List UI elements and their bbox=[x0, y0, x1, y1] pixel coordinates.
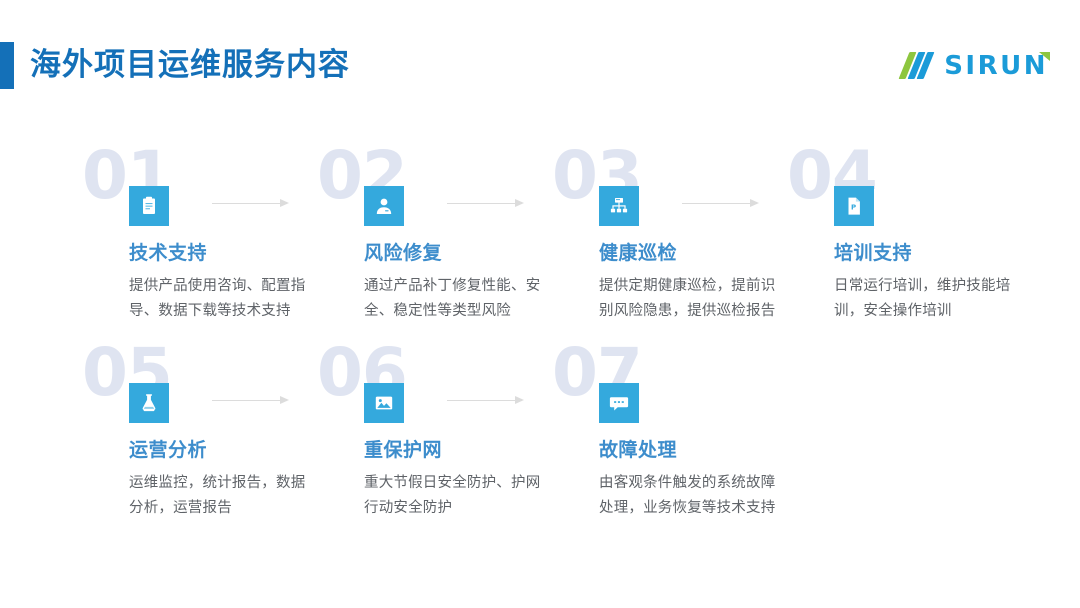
card-description: 运维监控，统计报告，数据分析，运营报告 bbox=[129, 471, 319, 521]
page-header: 海外项目运维服务内容 SIRUN bbox=[0, 0, 1080, 120]
card-title: 故障处理 bbox=[599, 435, 677, 462]
connector-arrow-6-7 bbox=[447, 396, 527, 405]
svg-text:P: P bbox=[851, 203, 856, 211]
card-title: 健康巡检 bbox=[599, 238, 677, 265]
card-description: 由客观条件触发的系统故障处理，业务恢复等技术支持 bbox=[599, 471, 789, 521]
card-title: 技术支持 bbox=[129, 238, 207, 265]
card-title: 培训支持 bbox=[834, 238, 912, 265]
image-icon bbox=[364, 383, 404, 423]
chat-bubble-icon bbox=[599, 383, 639, 423]
service-cards-grid: 01 技术支持 提供产品使用咨询、配置指导、数据下载等技术支持 02 风险修复 … bbox=[0, 120, 1080, 608]
connector-arrow-2-3 bbox=[447, 199, 527, 208]
logo-text: SIRUN bbox=[944, 51, 1048, 81]
card-description: 重大节假日安全防护、护网行动安全防护 bbox=[364, 471, 554, 521]
card-title: 风险修复 bbox=[364, 238, 442, 265]
brand-logo: SIRUN bbox=[903, 50, 1048, 82]
card-description: 日常运行培训，维护技能培训，安全操作培训 bbox=[834, 274, 1024, 324]
card-title: 重保护网 bbox=[364, 435, 442, 462]
connector-arrow-5-6 bbox=[212, 396, 292, 405]
title-accent-bar bbox=[0, 42, 14, 89]
connector-arrow-3-4 bbox=[682, 199, 762, 208]
user-icon bbox=[364, 186, 404, 226]
card-description: 提供产品使用咨询、配置指导、数据下载等技术支持 bbox=[129, 274, 319, 324]
flask-icon bbox=[129, 383, 169, 423]
card-description: 通过产品补丁修复性能、安全、稳定性等类型风险 bbox=[364, 274, 554, 324]
card-title: 运营分析 bbox=[129, 435, 207, 462]
sitemap-icon bbox=[599, 186, 639, 226]
clipboard-icon bbox=[129, 186, 169, 226]
connector-arrow-1-2 bbox=[212, 199, 292, 208]
file-ppt-icon: P bbox=[834, 186, 874, 226]
logo-mark-icon bbox=[903, 52, 935, 80]
card-description: 提供定期健康巡检，提前识别风险隐患，提供巡检报告 bbox=[599, 274, 789, 324]
page-title: 海外项目运维服务内容 bbox=[30, 44, 350, 86]
logo-wordmark: SIRUN bbox=[944, 51, 1048, 81]
